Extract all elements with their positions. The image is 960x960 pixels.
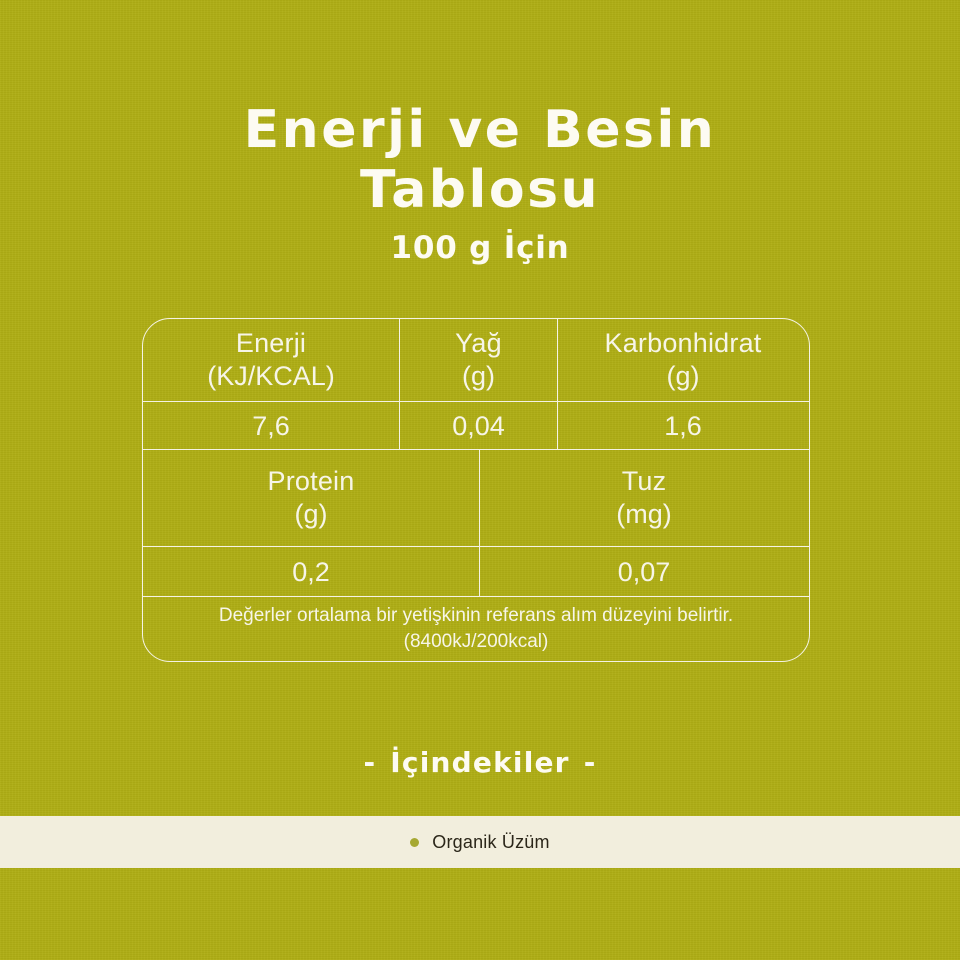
ingredients-heading: -İçindekiler- xyxy=(0,746,960,779)
table-value-cell-protein: 0,2 xyxy=(143,547,479,596)
dash-left: - xyxy=(349,746,390,779)
table-header-row-two: Protein (g) Tuz (mg) xyxy=(143,449,809,546)
value-fat: 0,04 xyxy=(452,411,505,441)
table-footnote-row: Değerler ortalama bir yetişkinin referan… xyxy=(143,596,809,661)
header-unit-carbohydrate: (g) xyxy=(667,360,700,393)
header-label-carbohydrate: Karbonhidrat xyxy=(604,327,761,360)
ingredients-strip: Organik Üzüm xyxy=(0,816,960,868)
table-footnote: Değerler ortalama bir yetişkinin referan… xyxy=(143,597,809,661)
value-protein: 0,2 xyxy=(292,557,330,587)
table-value-cell-salt: 0,07 xyxy=(479,547,808,596)
header-label-protein: Protein xyxy=(268,465,355,498)
list-item: Organik Üzüm xyxy=(410,832,549,853)
dash-right: - xyxy=(570,746,611,779)
serving-subtitle: 100 g İçin xyxy=(0,230,960,266)
header-label-salt: Tuz xyxy=(622,465,667,498)
title-line-2: Tablosu xyxy=(0,160,960,220)
table-value-cell-fat: 0,04 xyxy=(399,402,557,449)
table-value-cell-carbohydrate: 1,6 xyxy=(557,402,808,449)
value-salt: 0,07 xyxy=(618,557,671,587)
nutrition-label-canvas: Enerji ve Besin Tablosu 100 g İçin Enerj… xyxy=(0,0,960,960)
table-header-cell-fat: Yağ (g) xyxy=(399,319,557,401)
value-carbohydrate: 1,6 xyxy=(664,411,702,441)
bullet-icon xyxy=(410,838,419,847)
table-value-row-one: 7,6 0,04 1,6 xyxy=(143,401,809,449)
table-header-row-one: Enerji (KJ/KCAL) Yağ (g) Karbonhidrat (g… xyxy=(143,319,809,401)
ingredient-label: Organik Üzüm xyxy=(432,832,549,853)
value-energy: 7,6 xyxy=(252,411,290,441)
title-line-1: Enerji ve Besin xyxy=(0,100,960,160)
header-unit-energy: (KJ/KCAL) xyxy=(207,360,335,393)
header-unit-salt: (mg) xyxy=(616,498,672,531)
header-unit-protein: (g) xyxy=(295,498,328,531)
table-header-cell-energy: Enerji (KJ/KCAL) xyxy=(143,319,399,401)
footnote-line-2: (8400kJ/200kcal) xyxy=(404,629,549,655)
page-title: Enerji ve Besin Tablosu 100 g İçin xyxy=(0,100,960,266)
table-header-cell-salt: Tuz (mg) xyxy=(479,450,808,546)
header-label-fat: Yağ xyxy=(455,327,502,360)
ingredients-heading-label: İçindekiler xyxy=(390,746,569,779)
table-header-cell-protein: Protein (g) xyxy=(143,450,479,546)
header-label-energy: Enerji xyxy=(236,327,306,360)
table-value-cell-energy: 7,6 xyxy=(143,402,399,449)
header-unit-fat: (g) xyxy=(462,360,495,393)
table-value-row-two: 0,2 0,07 xyxy=(143,546,809,596)
nutrition-table: Enerji (KJ/KCAL) Yağ (g) Karbonhidrat (g… xyxy=(142,318,810,662)
table-header-cell-carbohydrate: Karbonhidrat (g) xyxy=(557,319,808,401)
footnote-line-1: Değerler ortalama bir yetişkinin referan… xyxy=(219,603,733,629)
